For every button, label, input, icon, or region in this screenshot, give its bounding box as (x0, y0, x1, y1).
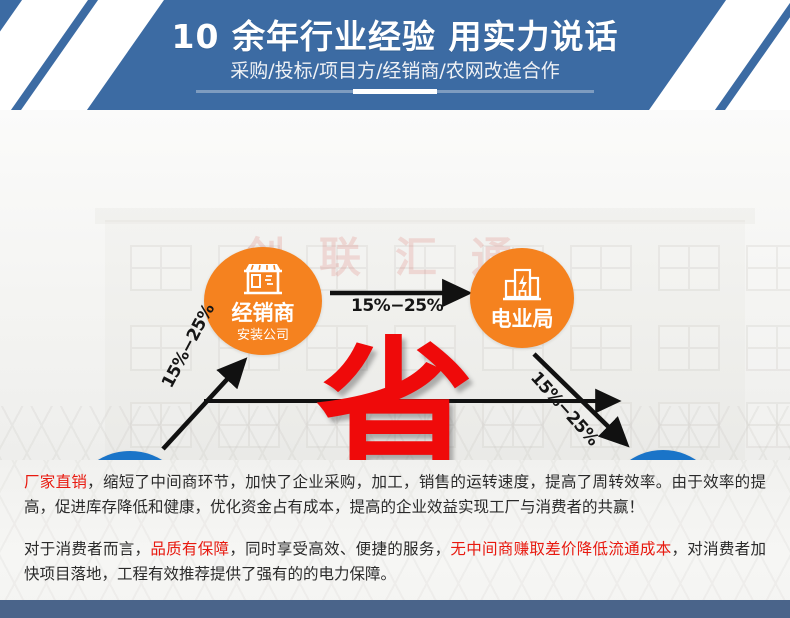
background-window (394, 325, 456, 371)
paragraph-1-text: ，缩短了中间商环节，加快了企业采购，加工，销售的运转速度，提高了周转效率。由于效… (24, 473, 766, 516)
node-power-bureau[interactable]: 电业局 (470, 248, 574, 348)
footer-bar (0, 600, 790, 618)
arrow-label-dealer-to-bureau: 15%−25% (351, 296, 443, 316)
background-window (746, 325, 790, 371)
paragraph-2-highlight-a: 品质有保障 (150, 540, 229, 558)
paragraph-1-highlight: 厂家直销 (24, 473, 87, 491)
banner-content: 10 余年行业经验 用实力说话 采购/投标/项目方/经销商/农网改造合作 (0, 0, 790, 110)
banner-subtitle: 采购/投标/项目方/经销商/农网改造合作 (230, 62, 560, 81)
banner-divider (196, 90, 594, 93)
node-dealer-label: 经销商 (232, 303, 295, 324)
background-window (658, 325, 720, 371)
banner-title: 10 余年行业经验 用实力说话 (172, 20, 619, 53)
background-window (746, 245, 790, 291)
background-window (570, 325, 632, 371)
header-banner: 10 余年行业经验 用实力说话 采购/投标/项目方/经销商/农网改造合作 (0, 0, 790, 110)
paragraph-2-text-b: ，同时享受高效、便捷的服务， (229, 540, 450, 558)
paragraph-2-text-a: 对于消费者而言， (24, 540, 150, 558)
background-window (658, 245, 720, 291)
node-power-bureau-label: 电业局 (491, 309, 554, 330)
background-window (130, 245, 192, 291)
background-window (570, 245, 632, 291)
paragraph-1: 厂家直销，缩短了中间商环节，加快了企业采购，加工，销售的运转速度，提高了周转效率… (24, 470, 766, 520)
shop-icon (241, 261, 285, 297)
flow-diagram: 创联汇通 省 (0, 110, 790, 460)
paragraph-2: 对于消费者而言，品质有保障，同时享受高效、便捷的服务，无中间商赚取差价降低流通成… (24, 537, 766, 587)
background-window (394, 245, 456, 291)
background-window (306, 325, 368, 371)
promo-page: 10 余年行业经验 用实力说话 采购/投标/项目方/经销商/农网改造合作 (0, 0, 790, 618)
node-dealer[interactable]: 经销商 安装公司 (204, 247, 322, 355)
description-section: 厂家直销，缩短了中间商环节，加快了企业采购，加工，销售的运转速度，提高了周转效率… (0, 460, 790, 618)
node-dealer-sublabel: 安装公司 (237, 329, 289, 342)
power-building-icon (502, 267, 542, 303)
paragraph-2-highlight-b: 无中间商赚取差价降低流通成本 (450, 540, 671, 558)
